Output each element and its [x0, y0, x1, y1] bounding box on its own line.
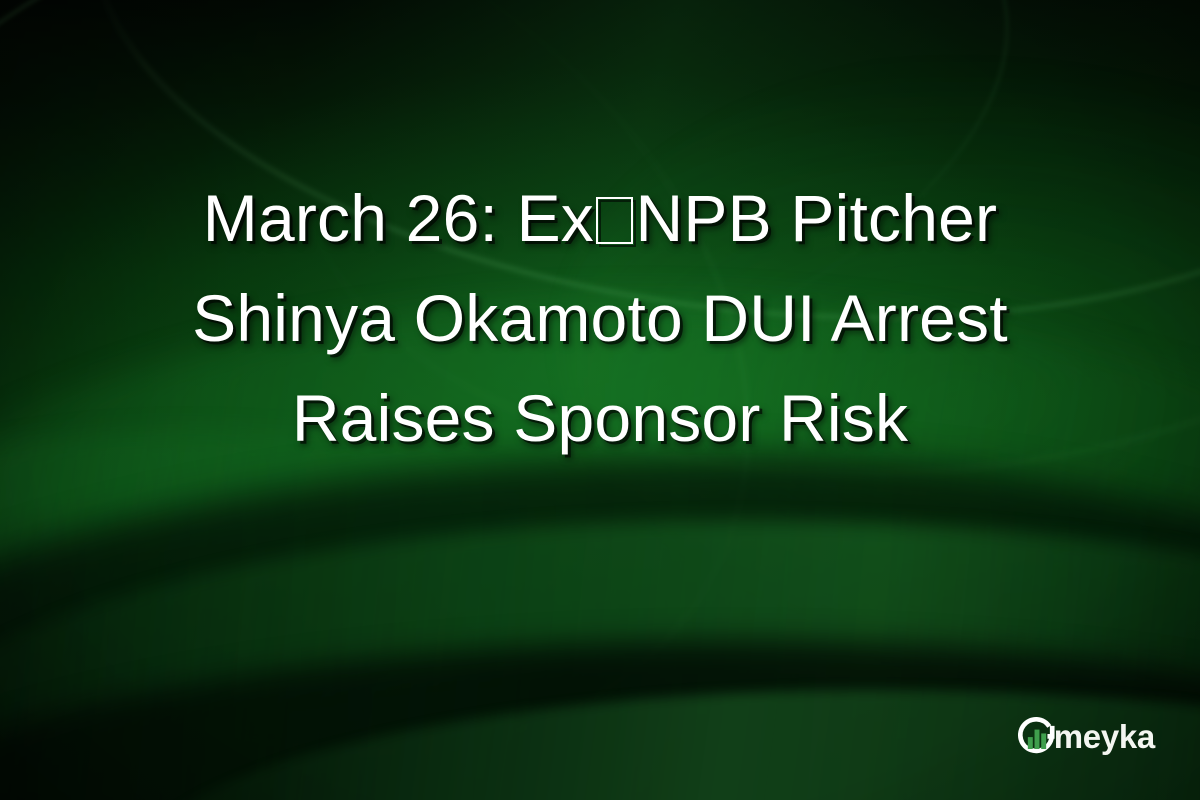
headline: March 26: ExNPB Pitcher Shinya Okamoto D… [0, 168, 1200, 468]
headline-line-1-after: NPB Pitcher [636, 181, 998, 255]
missing-glyph-box-icon [596, 197, 633, 243]
logo-bar-2 [1034, 730, 1039, 749]
headline-line-1: March 26: ExNPB Pitcher [56, 168, 1144, 268]
promo-card: March 26: ExNPB Pitcher Shinya Okamoto D… [0, 0, 1200, 800]
background-wave-left [0, 430, 820, 800]
headline-line-1-before: March 26: Ex [203, 181, 594, 255]
logo-bar-1 [1028, 737, 1033, 749]
headline-line-2: Shinya Okamoto DUI Arrest [56, 268, 1144, 368]
meyka-ring-chart-icon [1015, 714, 1059, 758]
meyka-wordmark: meyka [1054, 720, 1155, 753]
background-wave-3 [0, 520, 1200, 800]
headline-line-3: Raises Sponsor Risk [56, 368, 1144, 468]
logo-bar-3 [1041, 733, 1046, 749]
meyka-logo[interactable]: meyka [1015, 714, 1164, 758]
